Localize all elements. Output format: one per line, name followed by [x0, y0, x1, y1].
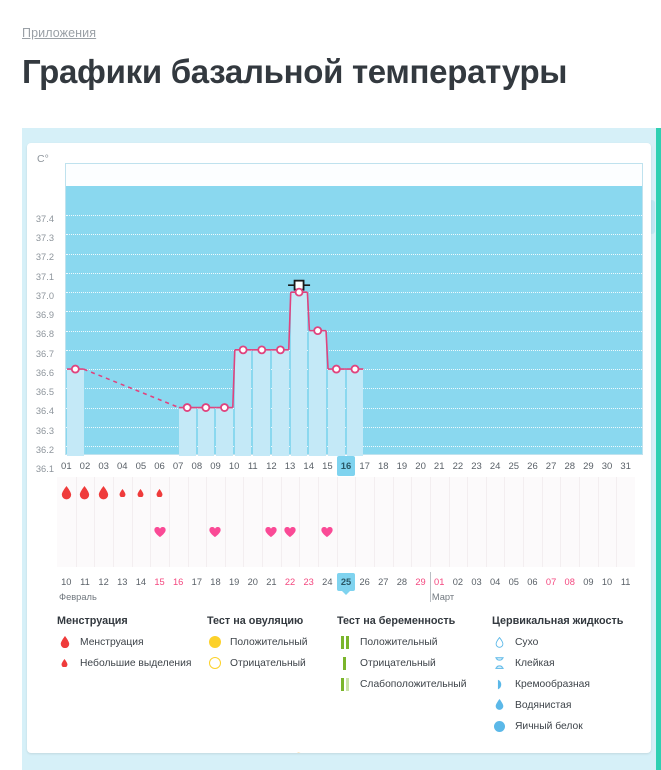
date-label-март-11[interactable]: 11 [616, 573, 635, 591]
day-label-28[interactable]: 28 [560, 456, 579, 476]
symbol-gridline [467, 477, 468, 567]
day-label-19[interactable]: 19 [393, 456, 412, 476]
legend-item[interactable]: Менструация [57, 635, 207, 649]
menstruation-marker-05[interactable] [132, 482, 151, 504]
day-label-08[interactable]: 08 [188, 456, 207, 476]
two-bars-icon [337, 636, 352, 649]
day-label-12[interactable]: 12 [262, 456, 281, 476]
y-tick-36.9: 36.9 [36, 310, 54, 320]
drop-filled-icon [492, 699, 507, 710]
legend-item[interactable]: Кремообразная [492, 677, 651, 691]
day-label-31[interactable]: 31 [616, 456, 635, 476]
day-label-15[interactable]: 15 [318, 456, 337, 476]
legend-item[interactable]: Лунный календарь [292, 752, 405, 753]
legend-column-title: Тест на беременность [337, 615, 492, 627]
day-label-25[interactable]: 25 [504, 456, 523, 476]
date-label-февраль-24[interactable]: 24 [318, 573, 337, 591]
legend-item-label: Отрицательный [230, 658, 306, 669]
hourglass-icon [492, 657, 507, 669]
legend-column-1: МенструацияМенструацияНебольшие выделени… [57, 615, 207, 740]
legend-column-title: Цервикальная жидкость [492, 615, 651, 627]
intercourse-marker-09[interactable] [206, 521, 225, 543]
day-label-06[interactable]: 06 [150, 456, 169, 476]
legend-item-label: Слабоположительный [360, 679, 466, 690]
legend-item-label: Менструация [80, 637, 144, 648]
intercourse-marker-12[interactable] [262, 521, 281, 543]
date-label-март-04[interactable]: 04 [486, 573, 505, 591]
symbol-gridline [355, 477, 356, 567]
legend-item-label: Небольшие выделения [80, 658, 191, 669]
date-label-февраль-27[interactable]: 27 [374, 573, 393, 591]
intercourse-marker-13[interactable] [281, 521, 300, 543]
day-label-27[interactable]: 27 [542, 456, 561, 476]
symbol-gridline [393, 477, 394, 567]
day-label-22[interactable]: 22 [449, 456, 468, 476]
circle-outline-icon [207, 657, 222, 669]
date-label-март-07[interactable]: 07 [542, 573, 561, 591]
legend-item[interactable]: Водянистая [492, 698, 651, 712]
legend-item-label: Клейкая [515, 658, 555, 669]
legend-column-3: Тест на беременностьПоложительныйОтрицат… [337, 615, 492, 740]
day-label-21[interactable]: 21 [430, 456, 449, 476]
symbol-gridline [560, 477, 561, 567]
half-moon-icon [492, 679, 507, 690]
one-bar-icon [337, 657, 352, 670]
date-label-февраль-23[interactable]: 23 [299, 573, 318, 591]
symbol-gridline [449, 477, 450, 567]
date-label-февраль-19[interactable]: 19 [225, 573, 244, 591]
month-separator [430, 572, 431, 602]
day-label-11[interactable]: 11 [243, 456, 262, 476]
legend-column-title: Тест на овуляцию [207, 615, 337, 627]
day-label-02[interactable]: 02 [76, 456, 95, 476]
legend-item[interactable]: Отрицательный [337, 656, 492, 670]
date-label-февраль-28[interactable]: 28 [393, 573, 412, 591]
legend-item-label: Сухо [515, 637, 538, 648]
date-label-февраль-11[interactable]: 11 [76, 573, 95, 591]
legend-item-label: Отрицательный [360, 658, 436, 669]
menstruation-marker-04[interactable] [113, 482, 132, 504]
date-label-февраль-21[interactable]: 21 [262, 573, 281, 591]
legend-item-label: Кремообразная [515, 679, 590, 690]
menstruation-marker-01[interactable] [57, 482, 76, 504]
chart-card: C° 37.437.337.237.137.036.936.836.736.63… [27, 143, 651, 753]
legend-item[interactable]: Сухо [492, 635, 651, 649]
circle-blue-icon [492, 721, 507, 732]
day-label-04[interactable]: 04 [113, 456, 132, 476]
date-label-февраль-16[interactable]: 16 [169, 573, 188, 591]
day-label-30[interactable]: 30 [598, 456, 617, 476]
day-label-14[interactable]: 14 [299, 456, 318, 476]
legend-column-4: Цервикальная жидкостьСухоКлейкаяКремообр… [492, 615, 651, 740]
symbol-gridline [616, 477, 617, 567]
date-label-март-01[interactable]: 01 [430, 573, 449, 591]
day-label-10[interactable]: 10 [225, 456, 244, 476]
bar-plus-faint-bar-icon [337, 678, 352, 691]
day-label-07[interactable]: 07 [169, 456, 188, 476]
y-tick-36.7: 36.7 [36, 349, 54, 359]
symbol-gridline [337, 477, 338, 567]
date-label-март-03[interactable]: 03 [467, 573, 486, 591]
date-label-февраль-18[interactable]: 18 [206, 573, 225, 591]
y-tick-36.6: 36.6 [36, 368, 54, 378]
menstruation-marker-03[interactable] [94, 482, 113, 504]
symbol-gridline [486, 477, 487, 567]
page-header: Приложения Графики базальной температуры [0, 0, 661, 91]
circle-filled-icon [207, 636, 222, 648]
plot-area[interactable] [65, 163, 643, 455]
day-label-01[interactable]: 01 [57, 456, 76, 476]
temperature-line-series [66, 164, 644, 456]
symbol-gridline [504, 477, 505, 567]
date-label-март-02[interactable]: 02 [449, 573, 468, 591]
legend-item[interactable]: Половой акт [57, 752, 140, 753]
day-label-26[interactable]: 26 [523, 456, 542, 476]
drop-large-icon [57, 636, 72, 649]
legend-item[interactable]: Яичный белок [492, 719, 651, 733]
symbol-gridline [188, 477, 189, 567]
day-label-23[interactable]: 23 [467, 456, 486, 476]
teal-accent-edge [656, 128, 661, 770]
menstruation-marker-02[interactable] [76, 482, 95, 504]
y-tick-36.2: 36.2 [36, 445, 54, 455]
symbol-gridline [542, 477, 543, 567]
symbol-gridline [169, 477, 170, 567]
y-tick-37.4: 37.4 [36, 214, 54, 224]
chart-container: C° 37.437.337.237.137.036.936.836.736.63… [27, 143, 651, 455]
legend-item[interactable]: Положительный [207, 635, 337, 649]
y-tick-36.3: 36.3 [36, 426, 54, 436]
symbol-gridline [579, 477, 580, 567]
date-label-февраль-20[interactable]: 20 [243, 573, 262, 591]
day-label-16[interactable]: 16 [337, 456, 356, 476]
y-tick-37.2: 37.2 [36, 252, 54, 262]
legend-column-2: Тест на овуляциюПоложительныйОтрицательн… [207, 615, 337, 740]
day-label-20[interactable]: 20 [411, 456, 430, 476]
symbol-gridline [411, 477, 412, 567]
day-number-axis[interactable]: 0102030405060708091011121314151617181920… [57, 456, 635, 476]
legend-item[interactable]: Клейкая [492, 656, 651, 670]
y-tick-36.1: 36.1 [36, 464, 54, 474]
breadcrumb-applications[interactable]: Приложения [22, 26, 96, 40]
intercourse-marker-15[interactable] [318, 521, 337, 543]
day-label-29[interactable]: 29 [579, 456, 598, 476]
date-label-февраль-25[interactable]: 25 [337, 573, 356, 591]
drop-outline-icon [492, 637, 507, 648]
day-label-09[interactable]: 09 [206, 456, 225, 476]
date-label-февраль-12[interactable]: 12 [94, 573, 113, 591]
menstruation-marker-06[interactable] [150, 482, 169, 504]
legend-item[interactable]: Небольшие выделения [57, 656, 207, 670]
symbol-gridline [523, 477, 524, 567]
day-label-13[interactable]: 13 [281, 456, 300, 476]
y-axis-unit-label: C° [37, 153, 49, 165]
legend-item-label: Положительный [360, 637, 437, 648]
heart-icon [57, 753, 72, 754]
date-label-февраль-17[interactable]: 17 [188, 573, 207, 591]
symbol-tracks[interactable] [57, 477, 635, 567]
symbol-gridline [430, 477, 431, 567]
moon-icon [292, 752, 307, 753]
date-label-март-09[interactable]: 09 [579, 573, 598, 591]
date-label-март-10[interactable]: 10 [598, 573, 617, 591]
symbol-gridline [299, 477, 300, 567]
drop-small-icon [57, 659, 72, 668]
y-tick-37.0: 37.0 [36, 291, 54, 301]
date-label-февраль-13[interactable]: 13 [113, 573, 132, 591]
day-label-03[interactable]: 03 [94, 456, 113, 476]
date-label-март-08[interactable]: 08 [560, 573, 579, 591]
legend-bottom-row: Половой актПрием лекарствЛунный календар… [57, 752, 651, 753]
date-label-февраль-29[interactable]: 29 [411, 573, 430, 591]
date-label-февраль-14[interactable]: 14 [132, 573, 151, 591]
day-label-18[interactable]: 18 [374, 456, 393, 476]
date-label-февраль-10[interactable]: 10 [57, 573, 76, 591]
month-label-март: Март [432, 592, 454, 602]
month-label-февраль: Февраль [59, 592, 97, 602]
legend-item[interactable]: Отрицательный [207, 656, 337, 670]
y-tick-37.1: 37.1 [36, 272, 54, 282]
legend: МенструацияМенструацияНебольшие выделени… [57, 615, 651, 740]
date-label-февраль-22[interactable]: 22 [281, 573, 300, 591]
y-tick-36.5: 36.5 [36, 387, 54, 397]
legend-item[interactable]: Слабоположительный [337, 677, 492, 691]
page-title: Графики базальной температуры [22, 53, 639, 91]
day-label-05[interactable]: 05 [132, 456, 151, 476]
date-label-март-05[interactable]: 05 [504, 573, 523, 591]
day-label-24[interactable]: 24 [486, 456, 505, 476]
date-label-февраль-15[interactable]: 15 [150, 573, 169, 591]
legend-item-label: Положительный [230, 637, 307, 648]
legend-item[interactable]: Прием лекарств [166, 752, 267, 753]
page-root: Приложения Графики базальной температуры… [0, 0, 661, 770]
date-label-февраль-26[interactable]: 26 [355, 573, 374, 591]
legend-item[interactable]: Положительный [337, 635, 492, 649]
symbol-gridline [243, 477, 244, 567]
symbol-gridline [374, 477, 375, 567]
y-tick-36.8: 36.8 [36, 329, 54, 339]
symbol-gridline [598, 477, 599, 567]
symbol-gridline [225, 477, 226, 567]
legend-item-label: Водянистая [515, 700, 571, 711]
date-label-март-06[interactable]: 06 [523, 573, 542, 591]
legend-item-label: Яичный белок [515, 721, 583, 732]
intercourse-marker-06[interactable] [150, 521, 169, 543]
calendar-date-axis[interactable]: 10Февраль1112131415161718192021222324252… [57, 573, 635, 591]
y-tick-36.4: 36.4 [36, 406, 54, 416]
y-tick-37.3: 37.3 [36, 233, 54, 243]
day-label-17[interactable]: 17 [355, 456, 374, 476]
legend-column-title: Менструация [57, 615, 207, 627]
